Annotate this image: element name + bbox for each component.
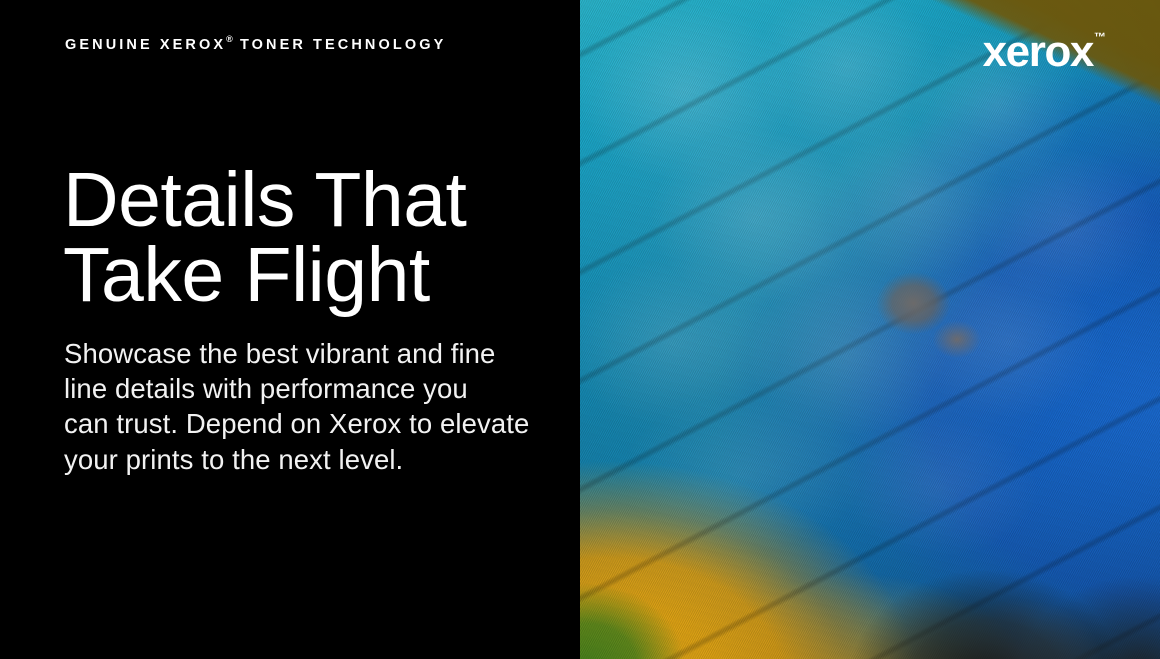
body-copy: Showcase the best vibrant and fine line … [64,336,534,477]
xerox-toner-banner: GENUINE XEROX® TONER TECHNOLOGY Details … [0,0,1160,659]
registered-trademark-icon: ® [226,34,233,44]
eyebrow-text-after-mark: TONER TECHNOLOGY [233,37,447,53]
headline: Details That Take Flight [63,163,466,314]
trademark-icon: ™ [1094,30,1106,44]
copy-panel: GENUINE XEROX® TONER TECHNOLOGY Details … [0,0,580,659]
macaw-feathers-photo: xerox™ [580,0,1160,659]
eyebrow-text: GENUINE XEROX® TONER TECHNOLOGY [65,35,446,54]
xerox-wordmark: xerox [983,27,1093,76]
eyebrow-text-before-mark: GENUINE XEROX [65,37,226,53]
xerox-logo: xerox™ [983,30,1105,74]
photo-vignette [580,0,1160,659]
